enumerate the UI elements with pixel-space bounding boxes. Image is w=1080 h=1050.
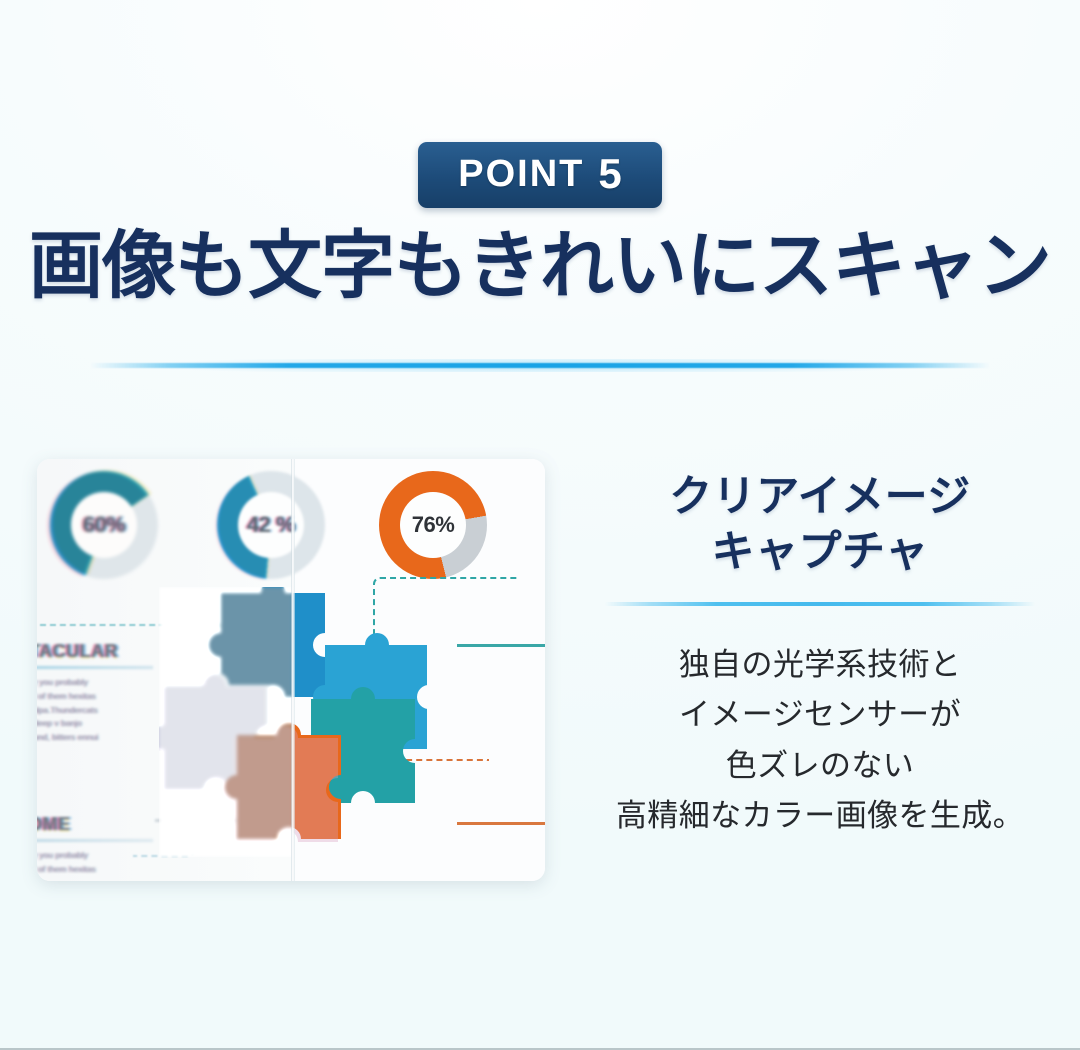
point-badge-label: POINT <box>458 155 584 193</box>
scan-split-seam <box>291 459 295 881</box>
donut-value: 42 % <box>247 512 295 538</box>
scan-sample-card: 60% 42 % 76% <box>37 459 545 881</box>
donut-value: 60% <box>83 512 126 538</box>
feature-body-line-4: 高精細なカラー画像を生成。 <box>585 791 1055 841</box>
feature-divider <box>605 602 1035 606</box>
feature-subheading-line2: キャプチャ <box>585 525 1055 580</box>
donut-chart-60: 60% <box>50 471 158 579</box>
donut-hole: 76% <box>400 492 466 558</box>
page-title: 画像も文字もきれいにスキャン <box>0 228 1080 305</box>
scan-section-outstanding: OUTSTANDI Delectus cray you pro haven't … <box>457 797 545 873</box>
scan-section-magnificient: MAGNIFICIE Delectus cray you pro haven't… <box>457 619 545 737</box>
scan-section-rule <box>457 822 545 825</box>
point-badge: POINT 5 <box>418 142 661 208</box>
page-root: POINT 5 画像も文字もきれいにスキャン 60% <box>0 0 1080 1050</box>
donut-chart-76: 76% <box>379 471 487 579</box>
scan-section-rule <box>457 644 545 647</box>
feature-body-line-2: イメージセンサーが <box>585 690 1055 740</box>
point-badge-number: 5 <box>598 153 621 195</box>
donut-hole: 60% <box>71 492 137 558</box>
feature-body-copy: 独自の光学系技術と イメージセンサーが 色ズレのない 高精細なカラー画像を生成。 <box>585 640 1055 841</box>
scan-section-rule <box>37 839 153 842</box>
scan-section-heading: OUTSTANDI <box>457 797 545 818</box>
headline-divider <box>90 363 990 368</box>
feature-copy-column: クリアイメージ キャプチャ 独自の光学系技術と イメージセンサーが 色ズレのない… <box>585 470 1055 841</box>
scan-section-heading: MAGNIFICIE <box>457 619 545 640</box>
donut-chart-42: 42 % <box>217 471 325 579</box>
feature-subheading-line1: クリアイメージ <box>585 470 1055 525</box>
feature-body-line-1: 独自の光学系技術と <box>585 640 1055 690</box>
feature-body-line-3: 色ズレのない <box>585 741 1055 791</box>
scan-section-rule <box>37 666 153 669</box>
feature-subheading: クリアイメージ キャプチャ <box>585 470 1055 580</box>
scan-section-body: Delectus cray you pro haven't heard of t… <box>457 832 545 873</box>
point-badge-wrap: POINT 5 <box>0 142 1080 208</box>
donut-value: 76% <box>412 512 455 538</box>
scan-section-body: Delectus cray you pro haven't heard of t… <box>457 654 545 737</box>
